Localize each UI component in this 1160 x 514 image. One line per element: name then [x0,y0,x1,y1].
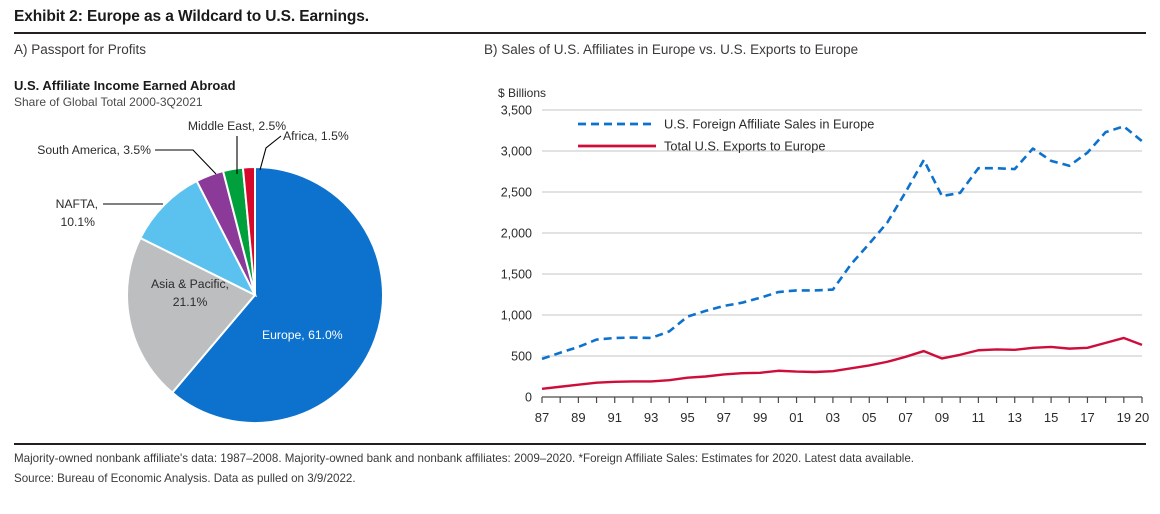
pie-label-middle-east: Middle East, 2.5% [188,119,286,133]
legend: U.S. Foreign Affiliate Sales in EuropeTo… [578,117,874,154]
pie-label-africa: Africa, 1.5% [283,129,349,143]
x-tick-label: 09 [935,410,949,425]
footnote-line-2: Source: Bureau of Economic Analysis. Dat… [14,472,356,485]
y-axis-labels: 05001,0001,5002,0002,5003,0003,500 [501,104,532,405]
pie-chart-subtitle: Share of Global Total 2000-3Q2021 [14,95,203,109]
pie-label-south-america: South America, 3.5% [37,143,151,157]
pie-label-nafta-line2: 10.1% [60,215,95,229]
exhibit-title: Exhibit 2: Europe as a Wildcard to U.S. … [14,8,369,26]
y-tick-label: 1,000 [501,309,532,323]
x-tick-label: 93 [644,410,658,425]
pie-label-nafta-line1: NAFTA, [56,197,98,211]
y-tick-label: 3,500 [501,104,532,118]
panel-b-label: B) Sales of U.S. Affiliates in Europe vs… [484,42,858,57]
header-rule [14,32,1146,34]
legend-label-affiliate-sales: U.S. Foreign Affiliate Sales in Europe [664,117,874,132]
x-tick-label: 20 [1135,410,1149,425]
series-group [542,126,1142,388]
legend-label-us-exports: Total U.S. Exports to Europe [664,139,825,154]
pie-chart-title: U.S. Affiliate Income Earned Abroad [14,78,236,93]
x-tick-label: 11 [972,410,986,425]
footer-rule [14,443,1146,445]
x-tick-label: 05 [862,410,876,425]
x-tick-label: 17 [1080,410,1094,425]
x-tick-label: 15 [1044,410,1058,425]
y-tick-label: 1,500 [501,268,532,282]
x-axis [542,397,1142,403]
footnote-line-1: Majority-owned nonbank affiliate's data:… [14,452,914,465]
x-tick-label: 19 [1117,410,1131,425]
x-tick-label: 13 [1007,410,1021,425]
y-tick-label: 0 [525,391,532,405]
x-axis-labels: 878991939597990103050709111315171920 [535,410,1149,425]
pie-chart: Europe, 61.0%Asia & Pacific,21.1%NAFTA,1… [0,118,470,438]
pie-label-europe: Europe, 61.0% [262,328,343,342]
pie-slice-group [127,167,383,423]
series-line-affiliate-sales [542,126,1142,358]
x-tick-label: 95 [680,410,694,425]
x-tick-label: 87 [535,410,549,425]
y-tick-label: 3,000 [501,145,532,159]
series-line-us-exports [542,338,1142,389]
y-tick-label: 2,500 [501,186,532,200]
panel-a-label: A) Passport for Profits [14,42,146,57]
x-tick-label: 99 [753,410,767,425]
x-tick-label: 97 [717,410,731,425]
y-tick-label: 500 [511,350,532,364]
x-tick-label: 01 [789,410,803,425]
pie-label-asia-pacific-line1: Asia & Pacific, [151,277,229,291]
y-tick-label: 2,000 [501,227,532,241]
pie-leader-south-america [155,150,216,174]
pie-label-asia-pacific-line2: 21.1% [173,295,208,309]
line-chart: 05001,0001,5002,0002,5003,0003,500 87899… [470,60,1160,440]
x-tick-label: 89 [571,410,585,425]
x-tick-label: 07 [898,410,912,425]
pie-leader-africa [260,136,281,170]
x-tick-label: 91 [607,410,621,425]
x-tick-label: 03 [826,410,840,425]
